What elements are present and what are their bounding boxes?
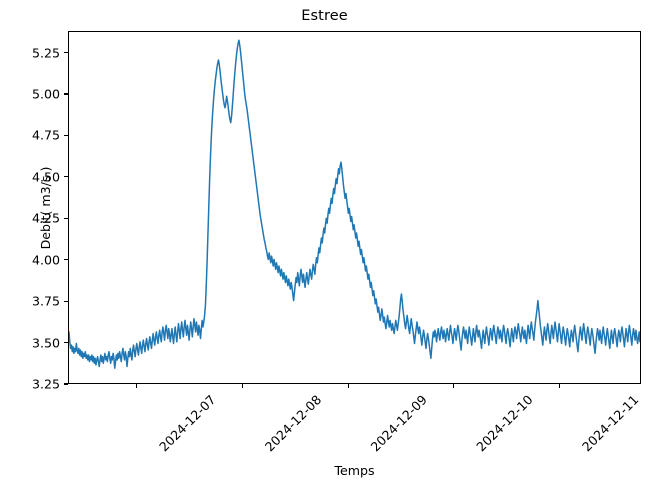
- x-tick-label: 2024-12-08: [262, 392, 324, 454]
- y-axis-label: Debit( m3/s ): [38, 166, 53, 249]
- y-tick-label: 5.00: [32, 86, 60, 101]
- y-tick-label: 5.25: [32, 45, 60, 60]
- x-tick-mark: [559, 384, 560, 388]
- x-tick-mark: [136, 384, 137, 388]
- y-axis-label-container: Debit( m3/s ): [8, 31, 28, 384]
- x-tick-label: 2024-12-10: [473, 392, 535, 454]
- x-tick-mark: [453, 384, 454, 388]
- y-tick-label: 3.50: [32, 335, 60, 350]
- y-tick-label: 4.75: [32, 128, 60, 143]
- x-axis-label: Temps: [68, 463, 641, 478]
- x-tick-mark: [242, 384, 243, 388]
- x-tick-label: 2024-12-11: [579, 392, 641, 454]
- x-tick-label: 2024-12-07: [156, 392, 218, 454]
- x-tick-label: 2024-12-09: [368, 392, 430, 454]
- chart-title: Estree: [0, 8, 649, 24]
- plot-area: [68, 31, 641, 384]
- matplotlib-figure: Estree Debit( m3/s ) 3.253.503.754.004.2…: [0, 0, 649, 489]
- y-tick-label: 3.75: [32, 294, 60, 309]
- line-series-debit: [69, 40, 640, 368]
- y-tick-label: 4.00: [32, 252, 60, 267]
- y-tick-label: 3.25: [32, 377, 60, 392]
- data-series-svg: [69, 32, 640, 383]
- x-tick-mark: [348, 384, 349, 388]
